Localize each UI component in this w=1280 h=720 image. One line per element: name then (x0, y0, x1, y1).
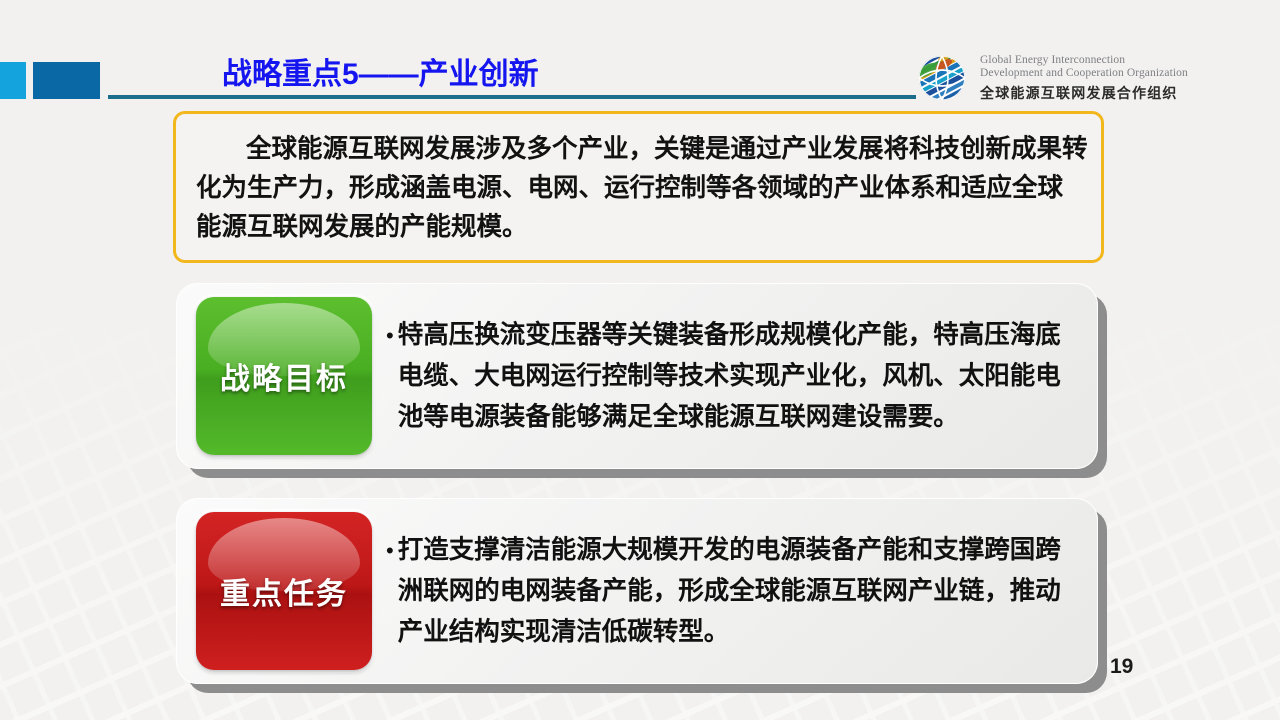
logo-english-line-1: Global Energy Interconnection (980, 54, 1188, 68)
organization-logo: Global Energy Interconnection Developmen… (914, 52, 1188, 104)
logo-text-block: Global Energy Interconnection Developmen… (980, 54, 1188, 103)
pill-strategic-goal-label: 战略目标 (220, 354, 348, 398)
header-accent-square-light (0, 62, 26, 99)
intro-paragraph: 全球能源互联网发展涉及多个产业，关键是通过产业发展将科技创新成果转化为生产力，形… (196, 130, 1088, 247)
logo-chinese-name: 全球能源互联网发展合作组织 (980, 83, 1188, 103)
slide-canvas: 战略重点5——产业创新 (0, 0, 1280, 720)
pill-key-tasks[interactable]: 重点任务 (196, 512, 372, 670)
bullet-item: • 特高压换流变压器等关键装备形成规模化产能，特高压海底电缆、大电网运行控制等技… (386, 315, 1078, 438)
globe-icon (914, 52, 970, 104)
title-underline-rule (108, 95, 916, 99)
bullet-marker-icon: • (386, 530, 394, 571)
card-key-tasks-body: • 打造支撑清洁能源大规模开发的电源装备产能和支撑跨国跨洲联网的电网装备产能，形… (386, 516, 1078, 666)
intro-callout-box: 全球能源互联网发展涉及多个产业，关键是通过产业发展将科技创新成果转化为生产力，形… (173, 111, 1104, 263)
card-key-tasks: 重点任务 • 打造支撑清洁能源大规模开发的电源装备产能和支撑跨国跨洲联网的电网装… (176, 498, 1098, 684)
slide-number: 19 (1110, 655, 1133, 679)
card-strategic-goal: 战略目标 • 特高压换流变压器等关键装备形成规模化产能，特高压海底电缆、大电网运… (176, 283, 1098, 469)
card-strategic-goal-body: • 特高压换流变压器等关键装备形成规模化产能，特高压海底电缆、大电网运行控制等技… (386, 301, 1078, 451)
bullet-item: • 打造支撑清洁能源大规模开发的电源装备产能和支撑跨国跨洲联网的电网装备产能，形… (386, 530, 1078, 653)
page-title: 战略重点5——产业创新 (222, 55, 539, 95)
pill-strategic-goal[interactable]: 战略目标 (196, 297, 372, 455)
pill-key-tasks-label: 重点任务 (220, 569, 348, 613)
card-strategic-goal-text: 特高压换流变压器等关键装备形成规模化产能，特高压海底电缆、大电网运行控制等技术实… (398, 315, 1078, 438)
slide-header: 战略重点5——产业创新 (0, 0, 1280, 112)
card-key-tasks-text: 打造支撑清洁能源大规模开发的电源装备产能和支撑跨国跨洲联网的电网装备产能，形成全… (398, 530, 1078, 653)
header-accent-square-dark (33, 62, 100, 99)
logo-english-line-2: Development and Cooperation Organization (980, 67, 1188, 81)
bullet-marker-icon: • (386, 315, 394, 356)
